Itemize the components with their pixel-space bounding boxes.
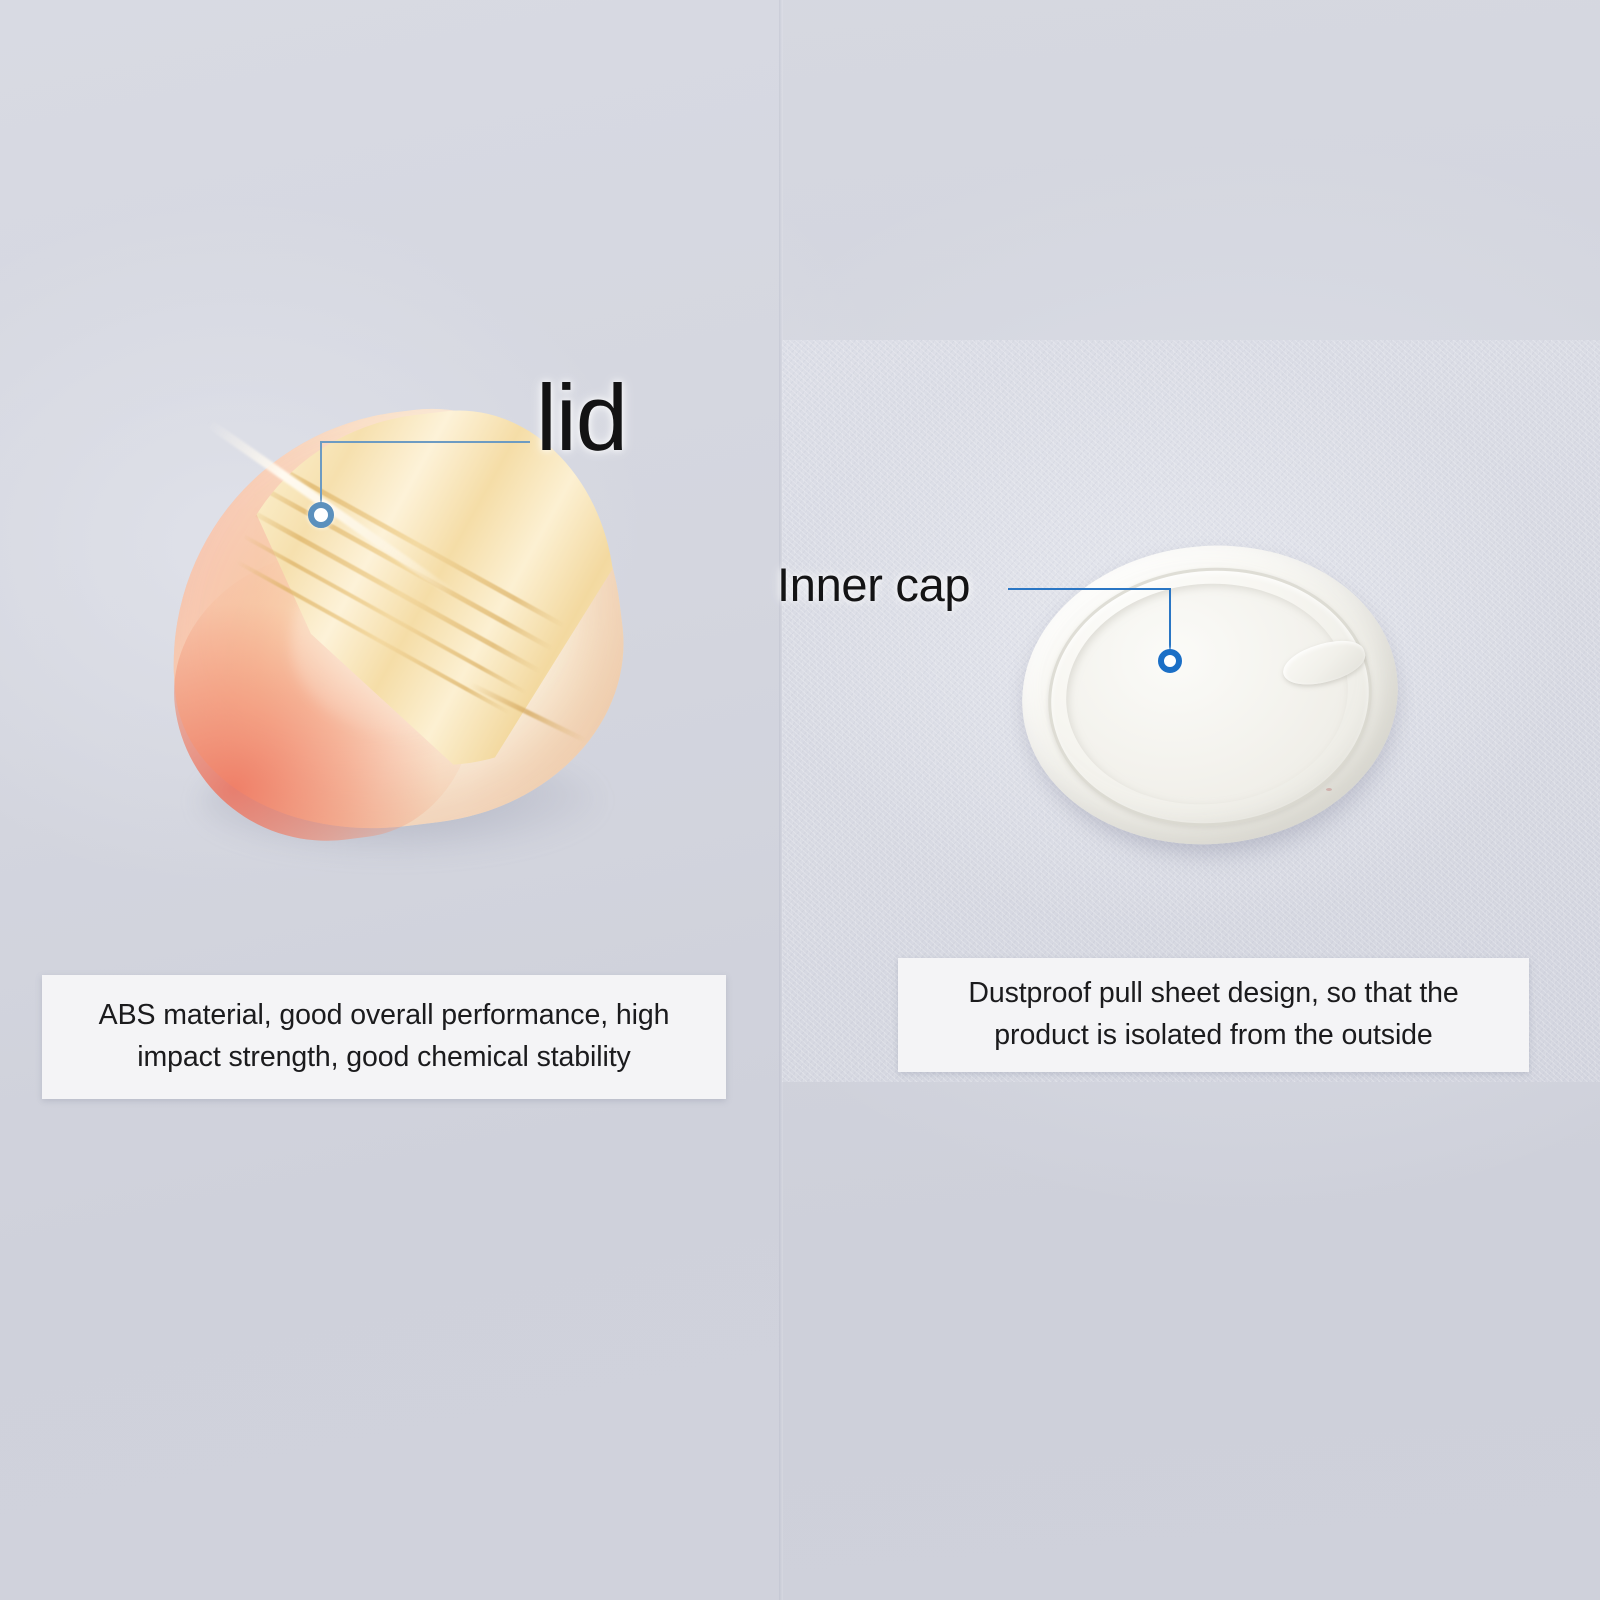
callout-leader-horizontal-lid [320,441,530,443]
callout-leader-vertical-inner-cap [1169,588,1171,654]
inner-cap-product-photo [1010,536,1410,866]
product-infographic: lid Inner cap ABS material, good overall… [0,0,1600,1600]
callout-leader-horizontal-inner-cap [1008,588,1171,590]
caption-box-lid: ABS material, good overall performance, … [42,975,726,1099]
callout-marker-lid[interactable] [308,502,334,528]
lid-product-photo [168,410,628,855]
inner-cap-surface-speck [1326,788,1332,791]
caption-box-inner-cap: Dustproof pull sheet design, so that the… [898,958,1529,1072]
panel-seam-divider [779,0,783,1600]
callout-label-inner-cap: Inner cap [777,561,970,608]
callout-label-lid: lid [536,371,627,465]
caption-text-lid: ABS material, good overall performance, … [68,995,700,1079]
caption-text-inner-cap: Dustproof pull sheet design, so that the… [920,973,1507,1057]
callout-marker-inner-cap[interactable] [1158,649,1182,673]
